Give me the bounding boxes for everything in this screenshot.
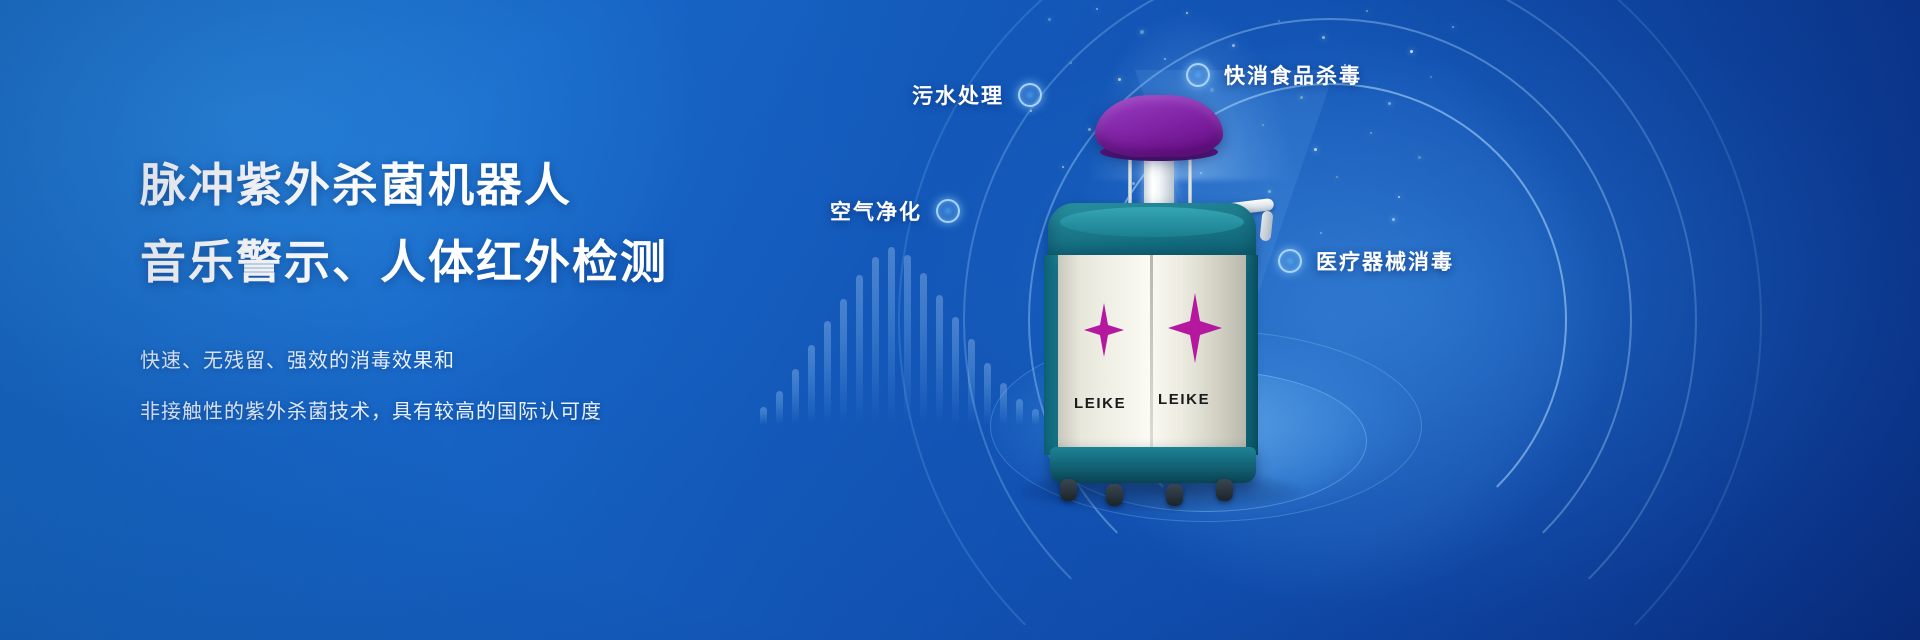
four-point-star-sparkle-icon: [1084, 303, 1124, 357]
body-panel-seam: [1150, 255, 1153, 453]
device-brand-right: LEIKE: [1158, 391, 1210, 408]
hero-banner: LEIKE LEIKE 污水处理 空气净化 快消食品杀毒 医疗器械消毒 脉冲紫外…: [0, 0, 1920, 640]
lamp-dome: [1095, 95, 1223, 157]
callout-label: 快消食品杀毒: [1224, 60, 1362, 90]
uv-robot-illustration: LEIKE LEIKE: [1040, 95, 1270, 490]
caster-wheel: [1166, 484, 1183, 506]
banner-headline-line2: 音乐警示、人体红外检测: [140, 227, 668, 298]
device-top-face: [1060, 207, 1244, 237]
callout-label: 污水处理: [912, 80, 1004, 110]
callout-air-purification: 空气净化: [830, 196, 960, 226]
callout-sewage-treatment: 污水处理: [912, 80, 1042, 110]
callout-label: 空气净化: [830, 196, 922, 226]
caster-wheel: [1106, 484, 1123, 506]
device-base: [1050, 447, 1256, 483]
ring-marker-icon: [1186, 63, 1210, 87]
device-brand-left: LEIKE: [1074, 395, 1126, 412]
handle-leg: [1259, 211, 1273, 242]
banner-text-block: 脉冲紫外杀菌机器人 音乐警示、人体红外检测 快速、无残留、强效的消毒效果和 非接…: [140, 150, 668, 433]
caster-wheel: [1216, 479, 1233, 501]
ring-marker-icon: [936, 199, 960, 223]
ring-marker-icon: [1018, 83, 1042, 107]
callout-label: 医疗器械消毒: [1316, 246, 1454, 276]
callout-food-disinfection: 快消食品杀毒: [1186, 60, 1362, 90]
banner-description-line2: 非接触性的紫外杀菌技术，具有较高的国际认可度: [140, 392, 668, 433]
callout-medical-device-disinfection: 医疗器械消毒: [1278, 246, 1454, 276]
four-point-star-sparkle-icon: [1168, 293, 1222, 363]
ring-marker-icon: [1278, 249, 1302, 273]
caster-wheel: [1060, 479, 1077, 501]
banner-headline-line1: 脉冲紫外杀菌机器人: [140, 150, 668, 221]
banner-description-line1: 快速、无残留、强效的消毒效果和: [140, 341, 668, 382]
